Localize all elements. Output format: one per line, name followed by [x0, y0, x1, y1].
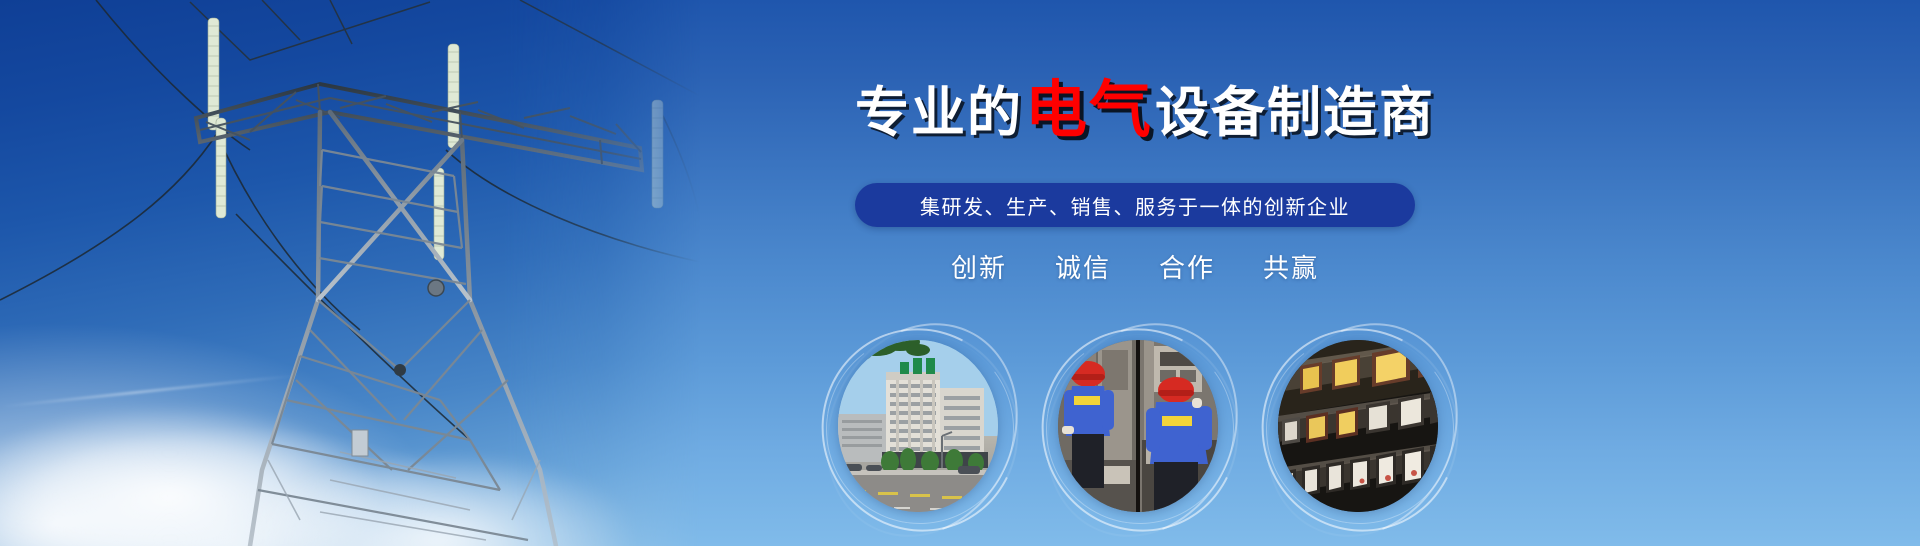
headline-part2: 设备制造商	[1155, 83, 1435, 143]
photo-circle-workers[interactable]	[1040, 318, 1238, 542]
keyword-cooperation: 合作	[1159, 248, 1215, 285]
photo-circle-group	[820, 318, 1460, 546]
tagline-pill: 集研发、生产、销售、服务于一体的创新企业	[855, 183, 1415, 227]
office-building-image	[838, 340, 998, 512]
tagline-text: 集研发、生产、销售、服务于一体的创新企业	[920, 191, 1350, 220]
hero-banner: 专业的电气设备制造商 集研发、生产、销售、服务于一体的创新企业 创新 诚信 合作…	[0, 0, 1920, 546]
keyword-winwin: 共赢	[1263, 248, 1319, 285]
headline-highlight: 电气	[1025, 76, 1153, 145]
pylon-illustration	[0, 0, 700, 546]
transmission-tower-photo	[0, 0, 700, 546]
workers-image	[1058, 340, 1218, 512]
keyword-row: 创新 诚信 合作 共赢	[855, 248, 1415, 285]
photo-circle-office-building[interactable]	[820, 318, 1018, 542]
workers-art	[1058, 340, 1218, 512]
office-building-art	[838, 340, 998, 512]
headline: 专业的电气设备制造商	[855, 78, 1425, 145]
keyword-innovation: 创新	[951, 248, 1007, 285]
certificate-wall-art	[1278, 340, 1438, 512]
certificate-wall-image	[1278, 340, 1438, 512]
photo-circle-certificates[interactable]	[1260, 318, 1458, 542]
headline-part1: 专业的	[855, 83, 1023, 143]
keyword-integrity: 诚信	[1055, 248, 1111, 285]
